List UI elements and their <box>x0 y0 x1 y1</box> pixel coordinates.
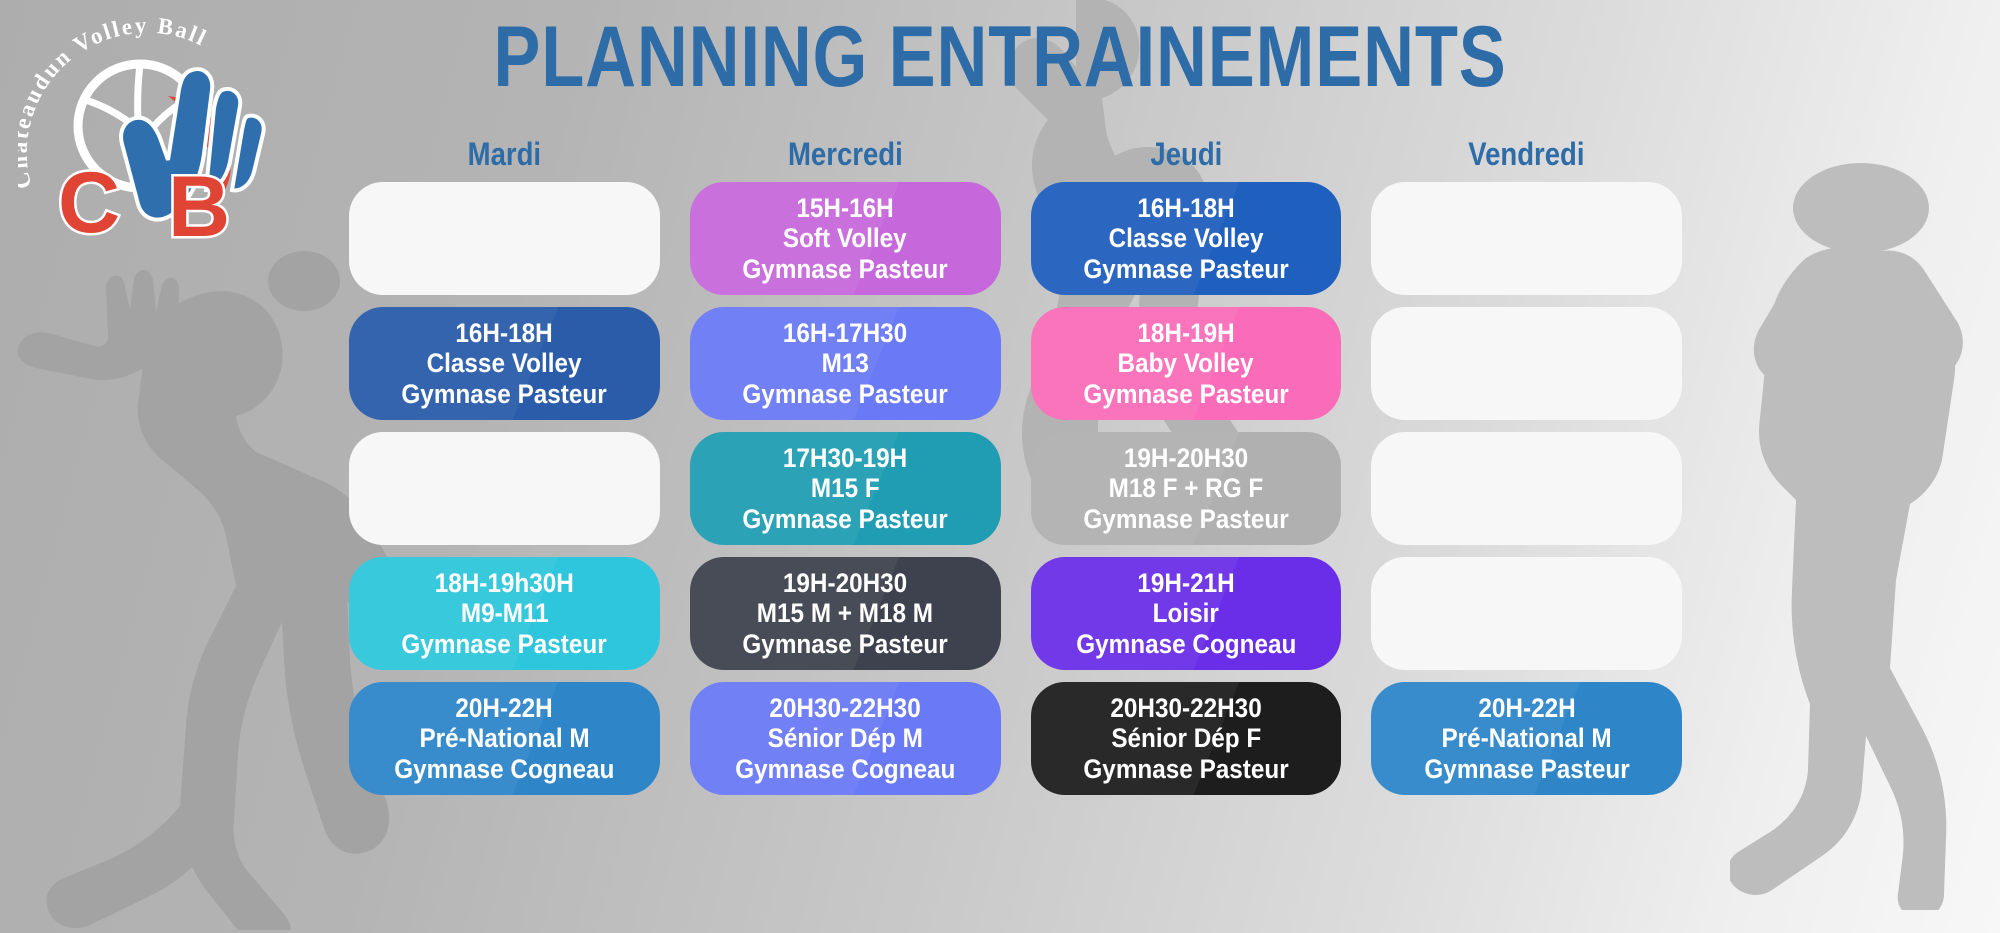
slot-mardi-1[interactable] <box>349 182 660 295</box>
slot-venue: Gymnase Pasteur <box>1424 754 1629 784</box>
slot-venue: Gymnase Pasteur <box>1083 379 1288 409</box>
slot-venue: Gymnase Pasteur <box>402 629 607 659</box>
slot-venue: Gymnase Pasteur <box>402 379 607 409</box>
day-columns: Mardi 16H-18H Classe Volley Gymnase Past… <box>349 138 1682 795</box>
slot-group: M9-M11 <box>460 598 548 628</box>
svg-text:B: B <box>168 159 230 244</box>
slot-vendredi-3[interactable] <box>1371 432 1682 545</box>
slot-venue: Gymnase Pasteur <box>742 629 947 659</box>
slot-mercredi-3[interactable]: 17H30-19H M15 F Gymnase Pasteur <box>690 432 1001 545</box>
slot-vendredi-4[interactable] <box>1371 557 1682 670</box>
slot-group: Pré-National M <box>1442 723 1612 753</box>
day-column-mercredi: Mercredi 15H-16H Soft Volley Gymnase Pas… <box>690 138 1001 795</box>
day-column-vendredi: Vendredi <box>1371 138 1682 795</box>
slot-time: 17H30-19H <box>783 443 907 473</box>
slot-stack-vendredi: 20H-22H Pré-National M Gymnase Pasteur <box>1371 182 1682 795</box>
slot-time: 20H30-22H30 <box>1110 693 1261 723</box>
slot-time: 20H30-22H30 <box>769 693 920 723</box>
slot-stack-mardi: 16H-18H Classe Volley Gymnase Pasteur 18… <box>349 182 660 795</box>
slot-group: M15 F <box>811 473 880 503</box>
slot-group: Sénior Dép F <box>1111 723 1261 753</box>
slot-group: Classe Volley <box>427 348 582 378</box>
training-schedule-poster: Châteaudun Volley Ball C B PLANNING ENTR… <box>0 0 2000 933</box>
day-header-mardi: Mardi <box>371 138 638 182</box>
slot-venue: Gymnase Pasteur <box>742 504 947 534</box>
slot-jeudi-3[interactable]: 19H-20H30 M18 F + RG F Gymnase Pasteur <box>1031 432 1342 545</box>
slot-time: 19H-21H <box>1137 568 1234 598</box>
slot-mercredi-2[interactable]: 16H-17H30 M13 Gymnase Pasteur <box>690 307 1001 420</box>
slot-venue: Gymnase Pasteur <box>1083 504 1288 534</box>
slot-time: 20H-22H <box>456 693 553 723</box>
slot-vendredi-1[interactable] <box>1371 182 1682 295</box>
slot-time: 16H-17H30 <box>783 318 907 348</box>
slot-time: 19H-20H30 <box>783 568 907 598</box>
slot-vendredi-2[interactable] <box>1371 307 1682 420</box>
slot-stack-mercredi: 15H-16H Soft Volley Gymnase Pasteur 16H-… <box>690 182 1001 795</box>
day-column-mardi: Mardi 16H-18H Classe Volley Gymnase Past… <box>349 138 660 795</box>
slot-venue: Gymnase Pasteur <box>742 379 947 409</box>
slot-mardi-4[interactable]: 18H-19h30H M9-M11 Gymnase Pasteur <box>349 557 660 670</box>
schedule-grid: Mardi 16H-18H Classe Volley Gymnase Past… <box>349 138 1682 795</box>
slot-time: 18H-19H <box>1137 318 1234 348</box>
slot-group: M13 <box>821 348 868 378</box>
slot-vendredi-5[interactable]: 20H-22H Pré-National M Gymnase Pasteur <box>1371 682 1682 795</box>
slot-mercredi-4[interactable]: 19H-20H30 M15 M + M18 M Gymnase Pasteur <box>690 557 1001 670</box>
slot-group: M18 F + RG F <box>1109 473 1264 503</box>
slot-stack-jeudi: 16H-18H Classe Volley Gymnase Pasteur 18… <box>1031 182 1342 795</box>
slot-mercredi-1[interactable]: 15H-16H Soft Volley Gymnase Pasteur <box>690 182 1001 295</box>
page-title: PLANNING ENTRAINEMENTS <box>180 14 1820 100</box>
slot-group: Loisir <box>1153 598 1219 628</box>
day-header-vendredi: Vendredi <box>1393 138 1660 182</box>
slot-mardi-3[interactable] <box>349 432 660 545</box>
slot-group: Baby Volley <box>1118 348 1254 378</box>
slot-venue: Gymnase Cogneau <box>394 754 614 784</box>
slot-jeudi-2[interactable]: 18H-19H Baby Volley Gymnase Pasteur <box>1031 307 1342 420</box>
slot-venue: Gymnase Cogneau <box>1076 629 1296 659</box>
slot-venue: Gymnase Pasteur <box>1083 754 1288 784</box>
slot-mardi-2[interactable]: 16H-18H Classe Volley Gymnase Pasteur <box>349 307 660 420</box>
slot-group: Pré-National M <box>419 723 589 753</box>
slot-time: 18H-19h30H <box>435 568 574 598</box>
slot-time: 16H-18H <box>1137 193 1234 223</box>
volleyball-shadow <box>268 251 340 311</box>
slot-jeudi-1[interactable]: 16H-18H Classe Volley Gymnase Pasteur <box>1031 182 1342 295</box>
slot-mercredi-5[interactable]: 20H30-22H30 Sénior Dép M Gymnase Cogneau <box>690 682 1001 795</box>
slot-time: 16H-18H <box>456 318 553 348</box>
day-header-jeudi: Jeudi <box>1052 138 1319 182</box>
slot-jeudi-4[interactable]: 19H-21H Loisir Gymnase Cogneau <box>1031 557 1342 670</box>
slot-jeudi-5[interactable]: 20H30-22H30 Sénior Dép F Gymnase Pasteur <box>1031 682 1342 795</box>
slot-venue: Gymnase Cogneau <box>735 754 955 784</box>
setting-player-silhouette <box>1730 150 2000 910</box>
slot-group: Classe Volley <box>1108 223 1263 253</box>
slot-group: Sénior Dép M <box>767 723 922 753</box>
slot-venue: Gymnase Pasteur <box>742 254 947 284</box>
day-header-mercredi: Mercredi <box>712 138 979 182</box>
day-column-jeudi: Jeudi 16H-18H Classe Volley Gymnase Past… <box>1031 138 1342 795</box>
slot-time: 19H-20H30 <box>1124 443 1248 473</box>
slot-group: Soft Volley <box>783 223 907 253</box>
svg-text:C: C <box>58 155 126 244</box>
slot-time: 20H-22H <box>1478 693 1575 723</box>
slot-time: 15H-16H <box>796 193 893 223</box>
slot-venue: Gymnase Pasteur <box>1083 254 1288 284</box>
slot-group: M15 M + M18 M <box>757 598 933 628</box>
slot-mardi-5[interactable]: 20H-22H Pré-National M Gymnase Cogneau <box>349 682 660 795</box>
